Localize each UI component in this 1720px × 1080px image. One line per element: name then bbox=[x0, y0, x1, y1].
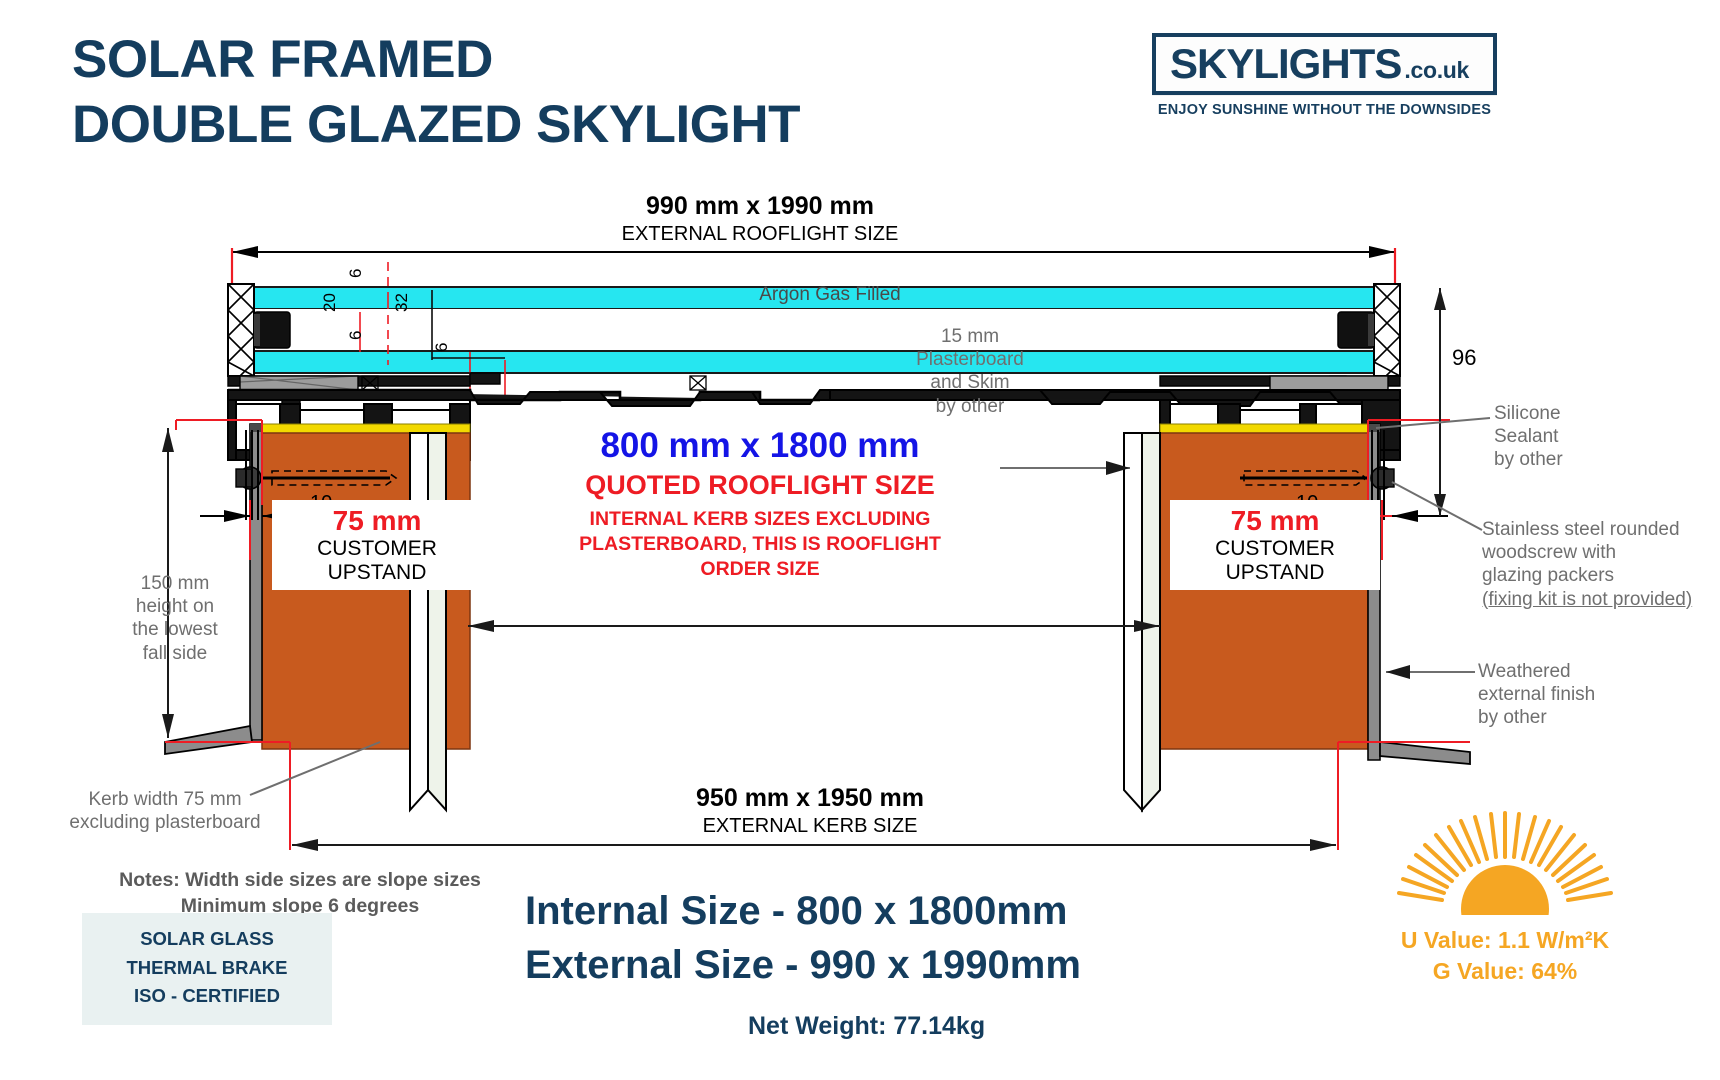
quoted-detail-line-2: PLASTERBOARD, THIS IS ROOFLIGHT bbox=[500, 532, 1020, 557]
u-value: U Value: 1.1 W/m²K bbox=[1390, 925, 1620, 956]
notes-block: Notes: Width side sizes are slope sizes … bbox=[80, 867, 520, 920]
height-callout: 150 mm height on the lowest fall side bbox=[100, 572, 250, 665]
quoted-size-block: 800 mm x 1800 mm QUOTED ROOFLIGHT SIZE I… bbox=[500, 425, 1020, 583]
weathered-line-3: by other bbox=[1478, 706, 1678, 729]
left-upstand-line2: UPSTAND bbox=[283, 561, 471, 585]
glazing-unit-total-label: 32 bbox=[392, 293, 412, 312]
performance-values: U Value: 1.1 W/m²K G Value: 64% bbox=[1390, 925, 1620, 987]
woodscrew-line-2: woodscrew with bbox=[1482, 541, 1720, 564]
left-flashing-return bbox=[165, 726, 252, 754]
plasterboard-line-1: 15 mm bbox=[880, 325, 1060, 348]
badge-line-1: SOLAR GLASS bbox=[82, 925, 332, 954]
glazing-inner-pane-label: 6 bbox=[346, 331, 366, 340]
left-sealant-band bbox=[262, 424, 470, 433]
top-dimension-line bbox=[232, 246, 1395, 258]
height-line-2: height on bbox=[100, 595, 250, 618]
right-plasterboard bbox=[1142, 433, 1160, 810]
quoted-size-heading: QUOTED ROOFLIGHT SIZE bbox=[500, 469, 1020, 503]
summary-external-size: External Size - 990 x 1990mm bbox=[525, 940, 1081, 991]
right-timber-upstand bbox=[1160, 433, 1368, 749]
silicone-callout: Silicone Sealant by other bbox=[1494, 402, 1674, 472]
left-upstand-line1: CUSTOMER bbox=[283, 537, 471, 561]
plasterboard-line-2: Plasterboard bbox=[880, 348, 1060, 371]
woodscrew-line-3: glazing packers bbox=[1482, 564, 1720, 587]
woodscrew-line-1: Stainless steel rounded bbox=[1482, 518, 1720, 541]
silicone-line-1: Silicone bbox=[1494, 402, 1674, 425]
sun-icon bbox=[1395, 805, 1615, 915]
inner-glass-pane bbox=[252, 351, 1376, 373]
quoted-detail-line-3: ORDER SIZE bbox=[500, 557, 1020, 582]
plasterboard-line-3: and Skim bbox=[880, 371, 1060, 394]
woodscrew-fixing-kit-note: (fixing kit is not provided) bbox=[1482, 588, 1720, 611]
weathered-line-2: external finish bbox=[1478, 683, 1678, 706]
woodscrew-callout: Stainless steel rounded woodscrew with g… bbox=[1482, 518, 1720, 611]
badge-line-2: THERMAL BRAKE bbox=[82, 954, 332, 983]
plasterboard-callout: 15 mm Plasterboard and Skim by other bbox=[880, 325, 1060, 418]
right-upstand-assembly bbox=[1124, 424, 1470, 810]
g-value: G Value: 64% bbox=[1390, 956, 1620, 987]
quoted-detail-line-1: INTERNAL KERB SIZES EXCLUDING bbox=[500, 507, 1020, 532]
kerb-width-line-1: Kerb width 75 mm bbox=[30, 788, 300, 811]
left-upstand-size: 75 mm bbox=[283, 505, 471, 537]
kerb-width-line-2: excluding plasterboard bbox=[30, 811, 300, 834]
height-line-4: fall side bbox=[100, 642, 250, 665]
notes-line-1: Notes: Width side sizes are slope sizes bbox=[80, 867, 520, 893]
right-upstand-line1: CUSTOMER bbox=[1181, 537, 1369, 561]
weathered-callout: Weathered external finish by other bbox=[1478, 660, 1678, 730]
height-line-3: the lowest bbox=[100, 618, 250, 641]
left-plasterboard bbox=[428, 433, 446, 810]
plasterboard-line-4: by other bbox=[880, 395, 1060, 418]
right-upstand-callout: 75 mm CUSTOMER UPSTAND bbox=[1170, 500, 1380, 590]
height-line-1: 150 mm bbox=[100, 572, 250, 595]
frame-height-dimension-96 bbox=[1434, 288, 1446, 516]
left-upstand-callout: 75 mm CUSTOMER UPSTAND bbox=[272, 500, 482, 590]
summary-internal-size: Internal Size - 800 x 1800mm bbox=[525, 886, 1068, 937]
right-sealant-band bbox=[1160, 424, 1368, 433]
external-kerb-dimension bbox=[292, 839, 1336, 851]
quoted-size-value: 800 mm x 1800 mm bbox=[500, 425, 1020, 467]
right-gasket bbox=[1270, 376, 1388, 390]
argon-fill-label: Argon Gas Filled bbox=[700, 284, 960, 306]
silicone-line-2: Sealant bbox=[1494, 425, 1674, 448]
silicone-line-3: by other bbox=[1494, 448, 1674, 471]
kerb-width-callout: Kerb width 75 mm excluding plasterboard bbox=[30, 788, 300, 834]
argon-cavity bbox=[252, 309, 1376, 351]
weathered-line-1: Weathered bbox=[1478, 660, 1678, 683]
frame-height-label-96: 96 bbox=[1452, 345, 1476, 371]
bottom-dimension-caption: EXTERNAL KERB SIZE bbox=[490, 815, 1130, 838]
badge-line-3: ISO - CERTIFIED bbox=[82, 982, 332, 1011]
right-flashing-return bbox=[1380, 742, 1470, 764]
solar-glass-badge: SOLAR GLASS THERMAL BRAKE ISO - CERTIFIE… bbox=[82, 913, 332, 1025]
right-upstand-line2: UPSTAND bbox=[1181, 561, 1369, 585]
bottom-dimension-value: 950 mm x 1950 mm bbox=[490, 784, 1130, 813]
right-upstand-size: 75 mm bbox=[1181, 505, 1369, 537]
internal-size-dimension bbox=[468, 620, 1160, 632]
frame-offset-label: 6 bbox=[432, 343, 452, 352]
glazing-cavity-label: 20 bbox=[320, 293, 340, 312]
glazing-outer-pane-label: 6 bbox=[346, 269, 366, 278]
summary-net-weight: Net Weight: 77.14kg bbox=[748, 1012, 985, 1041]
